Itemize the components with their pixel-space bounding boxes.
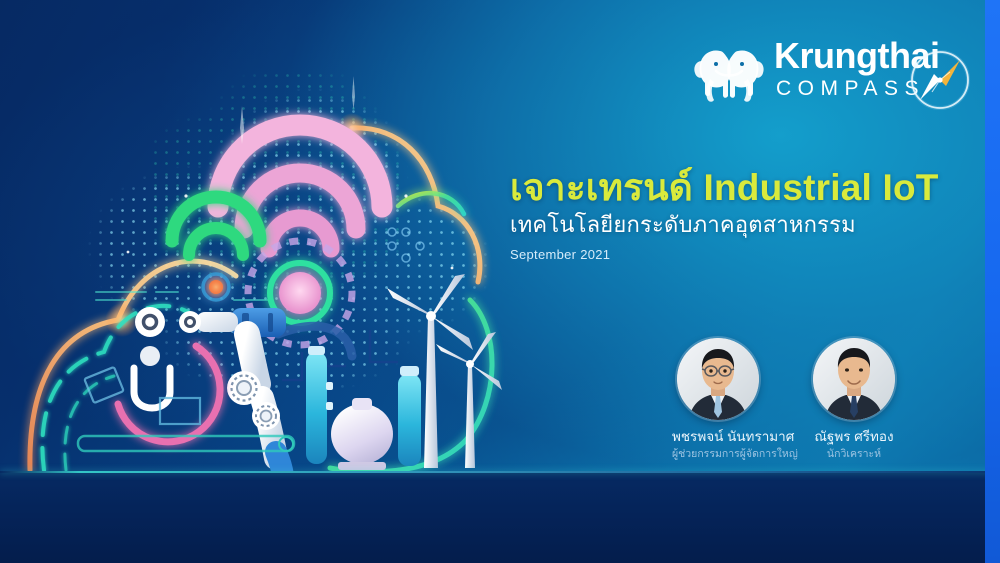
robot-gripper-icon <box>134 307 201 408</box>
publication-date: September 2021 <box>510 247 980 262</box>
two-elephants-icon <box>690 31 768 109</box>
speaker-name: พชรพจน์ นันทรามาศ <box>672 429 764 446</box>
speaker-role: นักวิเคราะห์ <box>808 448 900 461</box>
speaker-card: พชรพจน์ นันทรามาศ ผู้ช่วยกรรมการผู้จัดกา… <box>672 338 764 461</box>
title-block: เจาะเทรนด์ Industrial IoT เทคโนโลยียกระด… <box>510 168 980 262</box>
avatar <box>813 338 895 420</box>
logo-subword: COMPASS <box>776 78 925 99</box>
portrait-avatar-icon <box>677 338 759 420</box>
right-edge-strip <box>985 0 1000 563</box>
storage-tank-icon-left <box>306 346 333 464</box>
speaker-name: ณัฐพร ศรีทอง <box>808 429 900 446</box>
krungthai-compass-logo[interactable]: Krungthai COMPASS <box>690 26 980 116</box>
bottom-accent-line <box>0 471 1000 473</box>
speaker-role: ผู้ช่วยกรรมการผู้จัดการใหญ่ <box>672 448 764 461</box>
storage-tank-icon-right <box>398 366 421 466</box>
wifi-signal-icon-pink <box>218 125 382 323</box>
page-title: เจาะเทรนด์ Industrial IoT <box>510 168 980 208</box>
gear-icon-upper <box>227 371 261 405</box>
hud-circles-decoration <box>388 228 424 262</box>
compass-rose-icon <box>906 46 974 114</box>
portrait-avatar-icon <box>813 338 895 420</box>
industrial-iot-illustration <box>0 0 540 500</box>
illustration-vectors <box>0 0 540 500</box>
presentation-slide: Krungthai COMPASS เจาะเทรนด์ Industrial … <box>0 0 1000 563</box>
speaker-card: ณัฐพร ศรีทอง นักวิเคราะห์ <box>808 338 900 461</box>
avatar <box>677 338 759 420</box>
page-subtitle: เทคโนโลยียกระดับภาคอุตสาหกรรม <box>510 212 980 238</box>
speakers-list: พชรพจน์ นันทรามาศ ผู้ช่วยกรรมการผู้จัดกา… <box>672 338 942 461</box>
bottom-band <box>0 471 1000 563</box>
spherical-tank-icon <box>331 398 393 470</box>
